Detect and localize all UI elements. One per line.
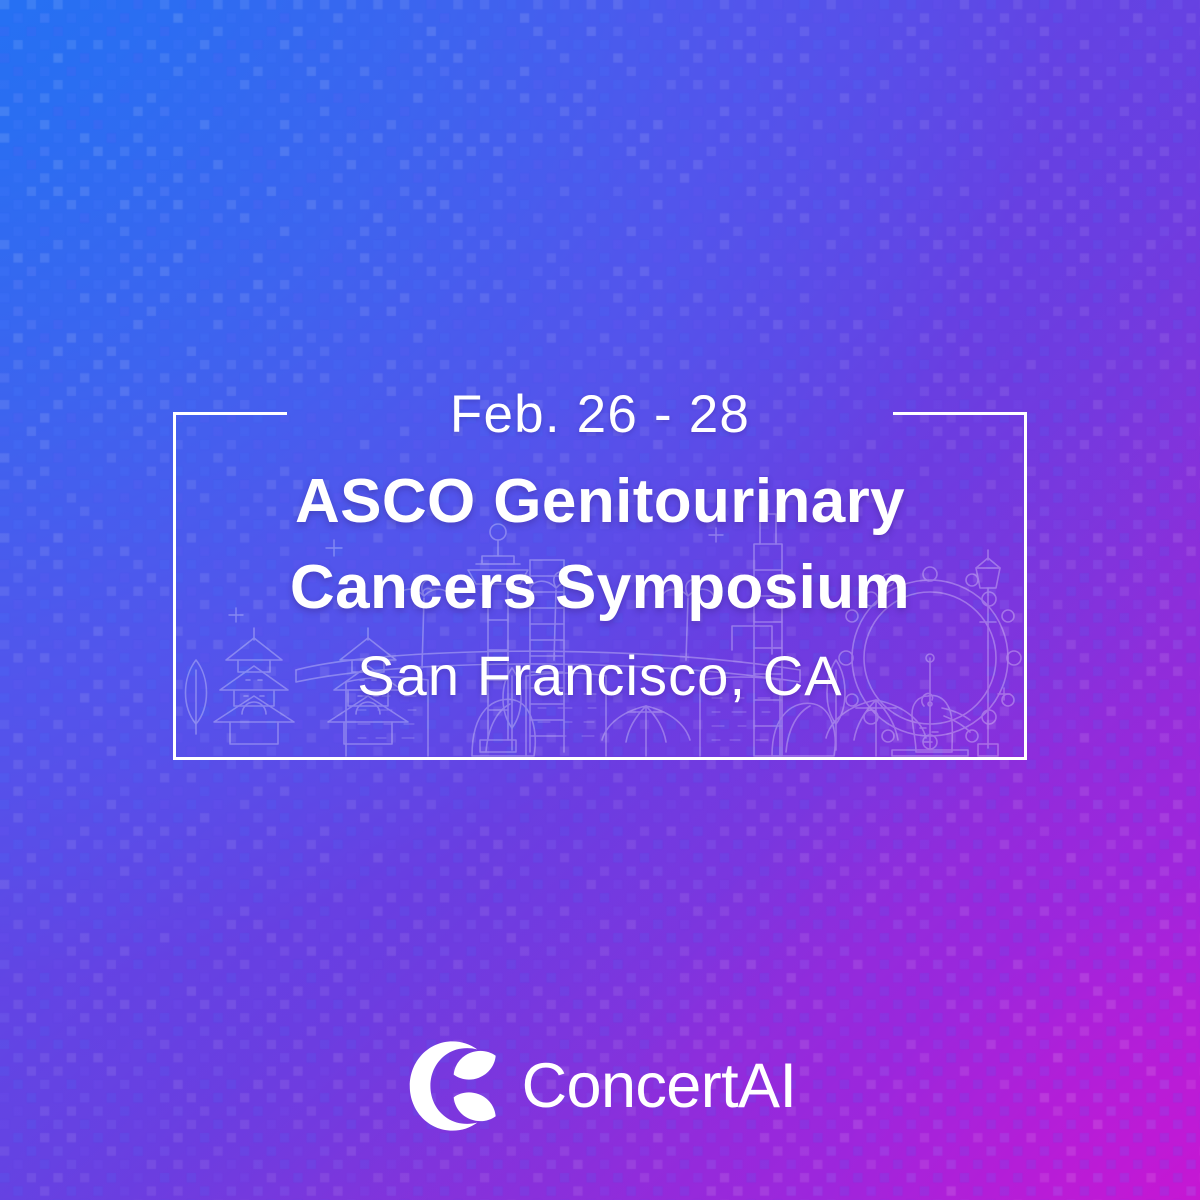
brand-logo-lockup: ConcertAI xyxy=(0,1034,1200,1138)
pixel-checkerboard-pattern xyxy=(0,0,1200,1200)
event-promo-poster: Feb. 26 - 28 ASCO Genitourinary Cancers … xyxy=(0,0,1200,1200)
concertai-logo-icon xyxy=(404,1038,500,1134)
concertai-wordmark: ConcertAI xyxy=(522,1050,797,1122)
